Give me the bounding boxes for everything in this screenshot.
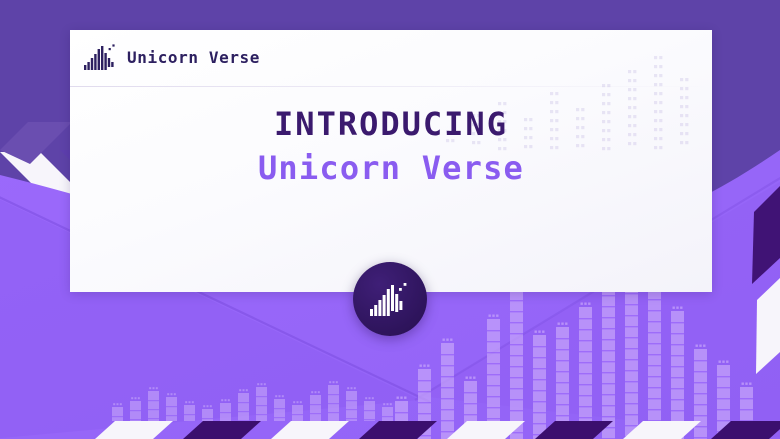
card-logo: Unicorn Verse	[84, 44, 260, 70]
announcement-card: Unicorn Verse INTRODUCING Unicorn Verse	[70, 30, 712, 292]
banner-canvas: Unicorn Verse INTRODUCING Unicorn Verse	[0, 0, 780, 439]
card-divider	[70, 86, 712, 87]
bar-chart-logo-icon	[369, 282, 411, 316]
bar-chart-logo-icon	[84, 44, 118, 70]
page-subtitle: Unicorn Verse	[70, 150, 712, 188]
card-pixel-chart-decor	[438, 34, 708, 154]
badge-logo-circle	[353, 262, 427, 336]
card-logo-text: Unicorn Verse	[127, 48, 260, 67]
